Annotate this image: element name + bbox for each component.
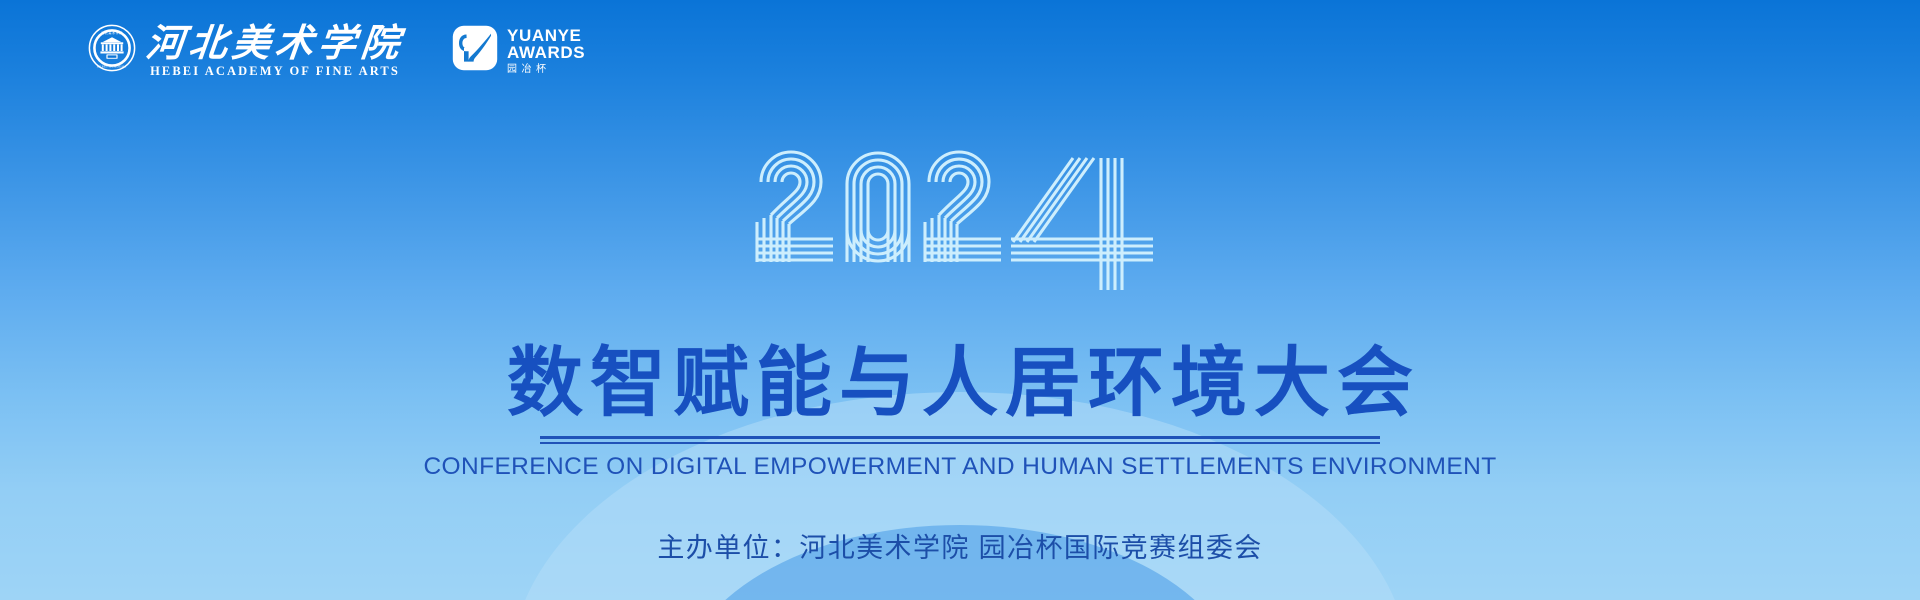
svg-text:河北美术学院: 河北美术学院 [101,30,123,35]
divider-rule-thick [540,436,1380,439]
yuanye-awards-logo[interactable]: YUANYE AWARDS 园冶杯 [452,25,585,76]
title-block: 数智赋能与人居环境大会 CONFERENCE ON DIGITAL EMPOWE… [0,344,1920,481]
yuanye-awards-wordmark: YUANYE AWARDS 园冶杯 [507,27,585,75]
title-divider [540,436,1380,444]
divider-rule-thin [540,442,1380,444]
page-subtitle-en: CONFERENCE ON DIGITAL EMPOWERMENT AND HU… [0,453,1920,481]
conference-banner: 河北美术学院 HEBEI ACADEMY 河北美术学院 HEBEI ACADEM… [0,0,1920,600]
logo-bar: 河北美术学院 HEBEI ACADEMY 河北美术学院 HEBEI ACADEM… [88,24,585,77]
hebei-academy-name-cn: 河北美术学院 [144,25,406,63]
yuanye-name-cn: 园冶杯 [507,65,585,75]
hebei-academy-seal-icon: 河北美术学院 HEBEI ACADEMY [88,24,136,77]
hebei-academy-wordmark: 河北美术学院 HEBEI ACADEMY OF FINE ARTS [146,25,404,78]
year-graphic [0,138,1920,298]
hebei-academy-logo[interactable]: 河北美术学院 HEBEI ACADEMY 河北美术学院 HEBEI ACADEM… [88,24,404,77]
svg-text:HEBEI ACADEMY: HEBEI ACADEMY [97,65,128,69]
yuanye-awards-mark-icon [452,25,498,76]
year-2024-icon [755,138,1165,298]
yuanye-line-2: AWARDS [507,44,585,62]
organizer-line: 主办单位：河北美术学院 园冶杯国际竞赛组委会 [0,526,1920,565]
hebei-academy-name-en: HEBEI ACADEMY OF FINE ARTS [150,65,400,78]
page-title: 数智赋能与人居环境大会 [0,344,1920,425]
yuanye-line-1: YUANYE [507,27,585,45]
